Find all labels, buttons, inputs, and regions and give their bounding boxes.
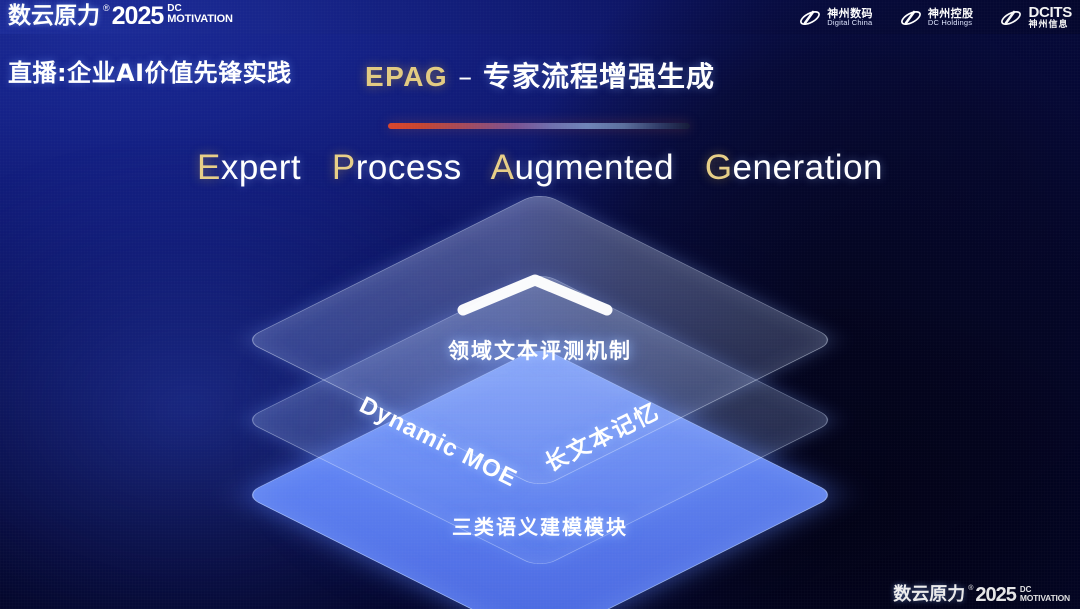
brand-name-cn: 数云原力 [8, 2, 100, 30]
slide-canvas: 数云原力 ® 2025 DC MOTIVATION 直播:企业AI价值先锋实践 … [0, 0, 1080, 609]
watermark-year: 2025 [975, 584, 1016, 606]
partner-logo-dcits: DCITS 神州信息 [999, 5, 1072, 30]
partner-name-cn: 神州信息 [1028, 21, 1072, 30]
title-acronym: EPAG [365, 61, 448, 92]
subtitle-space [311, 148, 321, 187]
partner-logo-dc-holdings: 神州控股 DC Holdings [899, 7, 974, 29]
partner-name-en: DC Holdings [928, 19, 974, 27]
swirl-logo-icon [798, 7, 822, 29]
partner-logo-digital-china: 神州数码 Digital China [798, 7, 873, 29]
swirl-logo-icon [999, 7, 1023, 29]
layer-label-bottom: 三类语义建模模块 [295, 511, 785, 540]
partner-label: DCITS 神州信息 [1028, 5, 1072, 30]
brand-dc-line2: MOTIVATION [167, 14, 232, 25]
registered-mark-icon: ® [103, 2, 110, 14]
subtitle-rest: eneration [733, 148, 883, 187]
page-title: EPAG – 专家流程增强生成 [0, 55, 1080, 95]
subtitle-rest: xpert [221, 148, 301, 187]
gradient-divider [388, 123, 690, 129]
partner-name-en: DCITS [1028, 5, 1072, 21]
subtitle-word-expert: Expert [197, 148, 301, 187]
title-chinese: 专家流程增强生成 [483, 60, 715, 93]
watermark-logo: 数云原力 ® 2025 DC MOTIVATION [893, 584, 1070, 606]
watermark-dc-motivation: DC MOTIVATION [1020, 586, 1070, 603]
watermark-dc-line2: MOTIVATION [1020, 594, 1070, 603]
chevron-up-icon [455, 272, 615, 316]
layer-label-top: 领域文本评测机制 [295, 335, 785, 365]
layered-architecture-diagram: 领域文本评测机制 Dynamic MOE 长文本记忆 三类语义建模模块 [295, 230, 785, 570]
swirl-logo-icon [899, 7, 923, 29]
brand-year: 2025 [112, 2, 164, 30]
brand-logo: 数云原力 ® 2025 DC MOTIVATION [8, 2, 233, 30]
title-dash: – [448, 60, 483, 93]
subtitle-cap: E [197, 148, 221, 187]
partner-label: 神州数码 Digital China [827, 8, 873, 27]
partner-name-en: Digital China [827, 19, 873, 27]
registered-mark-icon: ® [968, 584, 973, 593]
partner-label: 神州控股 DC Holdings [928, 8, 974, 27]
partner-logo-group: 神州数码 Digital China 神州控股 DC Holdings DCIT… [798, 5, 1072, 30]
brand-dc-motivation: DC MOTIVATION [167, 4, 232, 25]
watermark-name-cn: 数云原力 [893, 584, 965, 606]
